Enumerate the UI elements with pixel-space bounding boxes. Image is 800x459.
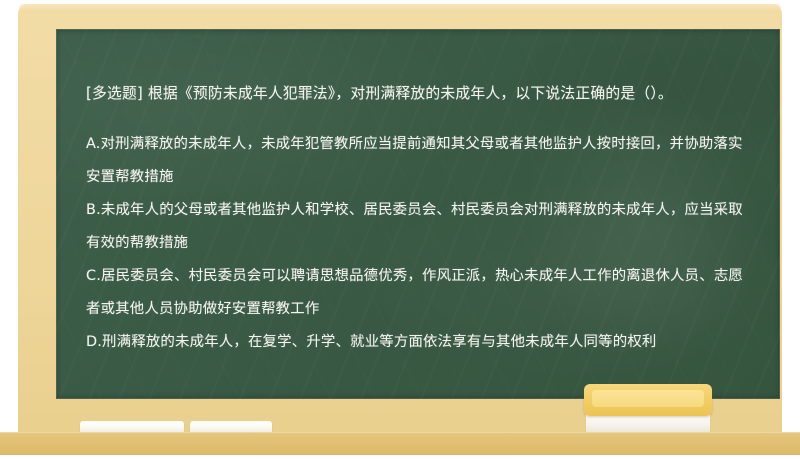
eraser-body [584,384,712,416]
question-content: [多选题] 根据《预防未成年人犯罪法》，对刑满释放的未成年人，以下说法正确的是（… [56,29,780,369]
question-stem: [多选题] 根据《预防未成年人犯罪法》，对刑满释放的未成年人，以下说法正确的是（… [86,77,750,110]
chalkboard-eraser-icon[interactable] [584,384,712,434]
eraser-inset-panel [592,390,704,407]
options-list: A.对刑满释放的未成年人，未成年犯管教所应当提前通知其父母或者其他监护人按时接回… [86,128,750,359]
option-c[interactable]: C.居民委员会、村民委员会可以聘请思想品德优秀，作风正派，热心未成年人工作的离退… [86,260,750,326]
frame-top-highlight [18,4,782,10]
blackboard-frame: [多选题] 根据《预防未成年人犯罪法》，对刑满释放的未成年人，以下说法正确的是（… [18,4,782,455]
option-d[interactable]: D.刑满释放的未成年人，在复学、升学、就业等方面依法享有与其他未成年人同等的权利 [86,326,750,359]
option-b[interactable]: B.未成年人的父母或者其他监护人和学校、居民委员会、村民委员会对刑满释放的未成年… [86,194,750,260]
ledge-lip [0,432,800,455]
option-a[interactable]: A.对刑满释放的未成年人，未成年犯管教所应当提前通知其父母或者其他监护人按时接回… [86,128,750,194]
chalkboard-surface: [多选题] 根据《预防未成年人犯罪法》，对刑满释放的未成年人，以下说法正确的是（… [56,29,780,399]
chalk-ledge [18,399,782,455]
